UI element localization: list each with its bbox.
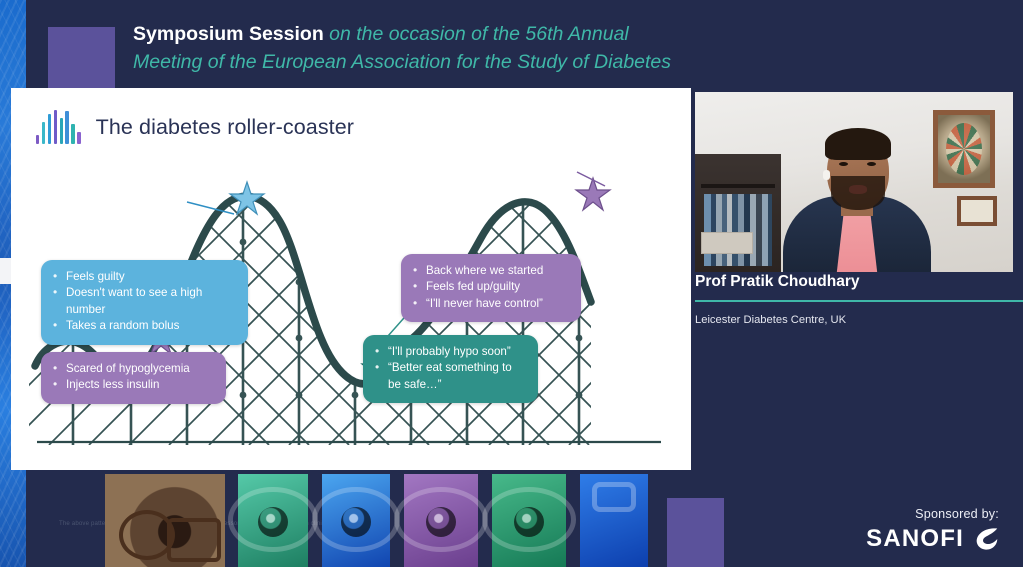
speaker-figure xyxy=(783,96,931,272)
speaker-divider xyxy=(695,300,1023,302)
storage-box xyxy=(701,232,753,254)
header-purple-block xyxy=(48,27,115,89)
filmstrip-segment xyxy=(238,474,308,567)
sanofi-wordmark: SANOFI xyxy=(866,525,964,553)
callout-item: Doesn't want to see a high number xyxy=(51,285,236,318)
presentation-slide[interactable]: The diabetes roller-coaster xyxy=(11,88,691,470)
filmstrip-segment xyxy=(105,474,225,567)
sponsored-by-label: Sponsored by: xyxy=(866,507,999,521)
speaker-affiliation: Leicester Diabetes Centre, UK xyxy=(695,314,1015,326)
slide-header: The diabetes roller-coaster xyxy=(36,110,354,144)
speaker-video-feed[interactable] xyxy=(695,92,1013,272)
header-title-em-1: on the occasion of the 56th Annual xyxy=(329,23,629,45)
filmstrip-segment xyxy=(322,474,390,567)
mouth xyxy=(849,185,867,194)
callout-item: Scared of hypoglycemia xyxy=(51,361,214,377)
callout-hypo-prevention[interactable]: “I'll probably hypo soon” “Better eat so… xyxy=(363,335,538,403)
callout-hypo-fear[interactable]: Scared of hypoglycemia Injects less insu… xyxy=(41,352,226,404)
slide-title: The diabetes roller-coaster xyxy=(96,115,354,140)
callout-item: Injects less insulin xyxy=(51,377,214,393)
marker-star-back-to-start xyxy=(576,178,610,210)
eye-right xyxy=(867,162,876,166)
wall-picture-small xyxy=(957,196,997,226)
filmstrip-purple-block xyxy=(667,498,724,567)
callout-item: “I'll probably hypo soon” xyxy=(373,344,526,360)
callout-item: “I'll never have control” xyxy=(411,296,569,312)
callout-item: Feels fed up/guilty xyxy=(411,279,569,295)
callout-item: Back where we started xyxy=(411,263,569,279)
filmstrip-segment xyxy=(404,474,478,567)
eye-left xyxy=(839,162,848,166)
waveform-icon xyxy=(36,110,81,144)
callout-item: Feels guilty xyxy=(51,269,236,285)
header-bar: Symposium Session on the occasion of the… xyxy=(0,0,1023,88)
bookshelf xyxy=(695,154,781,272)
sanofi-logo: SANOFI xyxy=(866,525,999,553)
header-title-em-2: Meeting of the European Association for … xyxy=(133,50,773,75)
video-background xyxy=(695,92,1013,272)
sponsor-block: Sponsored by: SANOFI xyxy=(866,507,999,553)
callout-item: Takes a random bolus xyxy=(51,318,236,334)
filmstrip-segment xyxy=(580,474,648,567)
speaker-name: Prof Pratik Choudhary xyxy=(695,273,1015,299)
webinar-screen: Symposium Session on the occasion of the… xyxy=(0,0,1023,567)
wall-picture-large xyxy=(933,110,995,188)
callout-high-glucose[interactable]: Feels guilty Doesn't want to see a high … xyxy=(41,260,248,345)
header-title: Symposium Session on the occasion of the… xyxy=(133,22,773,76)
header-title-strong: Symposium Session xyxy=(133,23,324,45)
filmstrip-segment xyxy=(492,474,566,567)
sanofi-swoosh-icon xyxy=(971,525,999,553)
marker-star-high-glucose xyxy=(230,182,264,214)
callout-item: “Better eat something to be safe…” xyxy=(373,360,526,393)
earbud-icon xyxy=(823,170,830,180)
books xyxy=(704,194,772,266)
callout-back-to-start[interactable]: Back where we started Feels fed up/guilt… xyxy=(401,254,581,322)
hair xyxy=(825,128,891,160)
